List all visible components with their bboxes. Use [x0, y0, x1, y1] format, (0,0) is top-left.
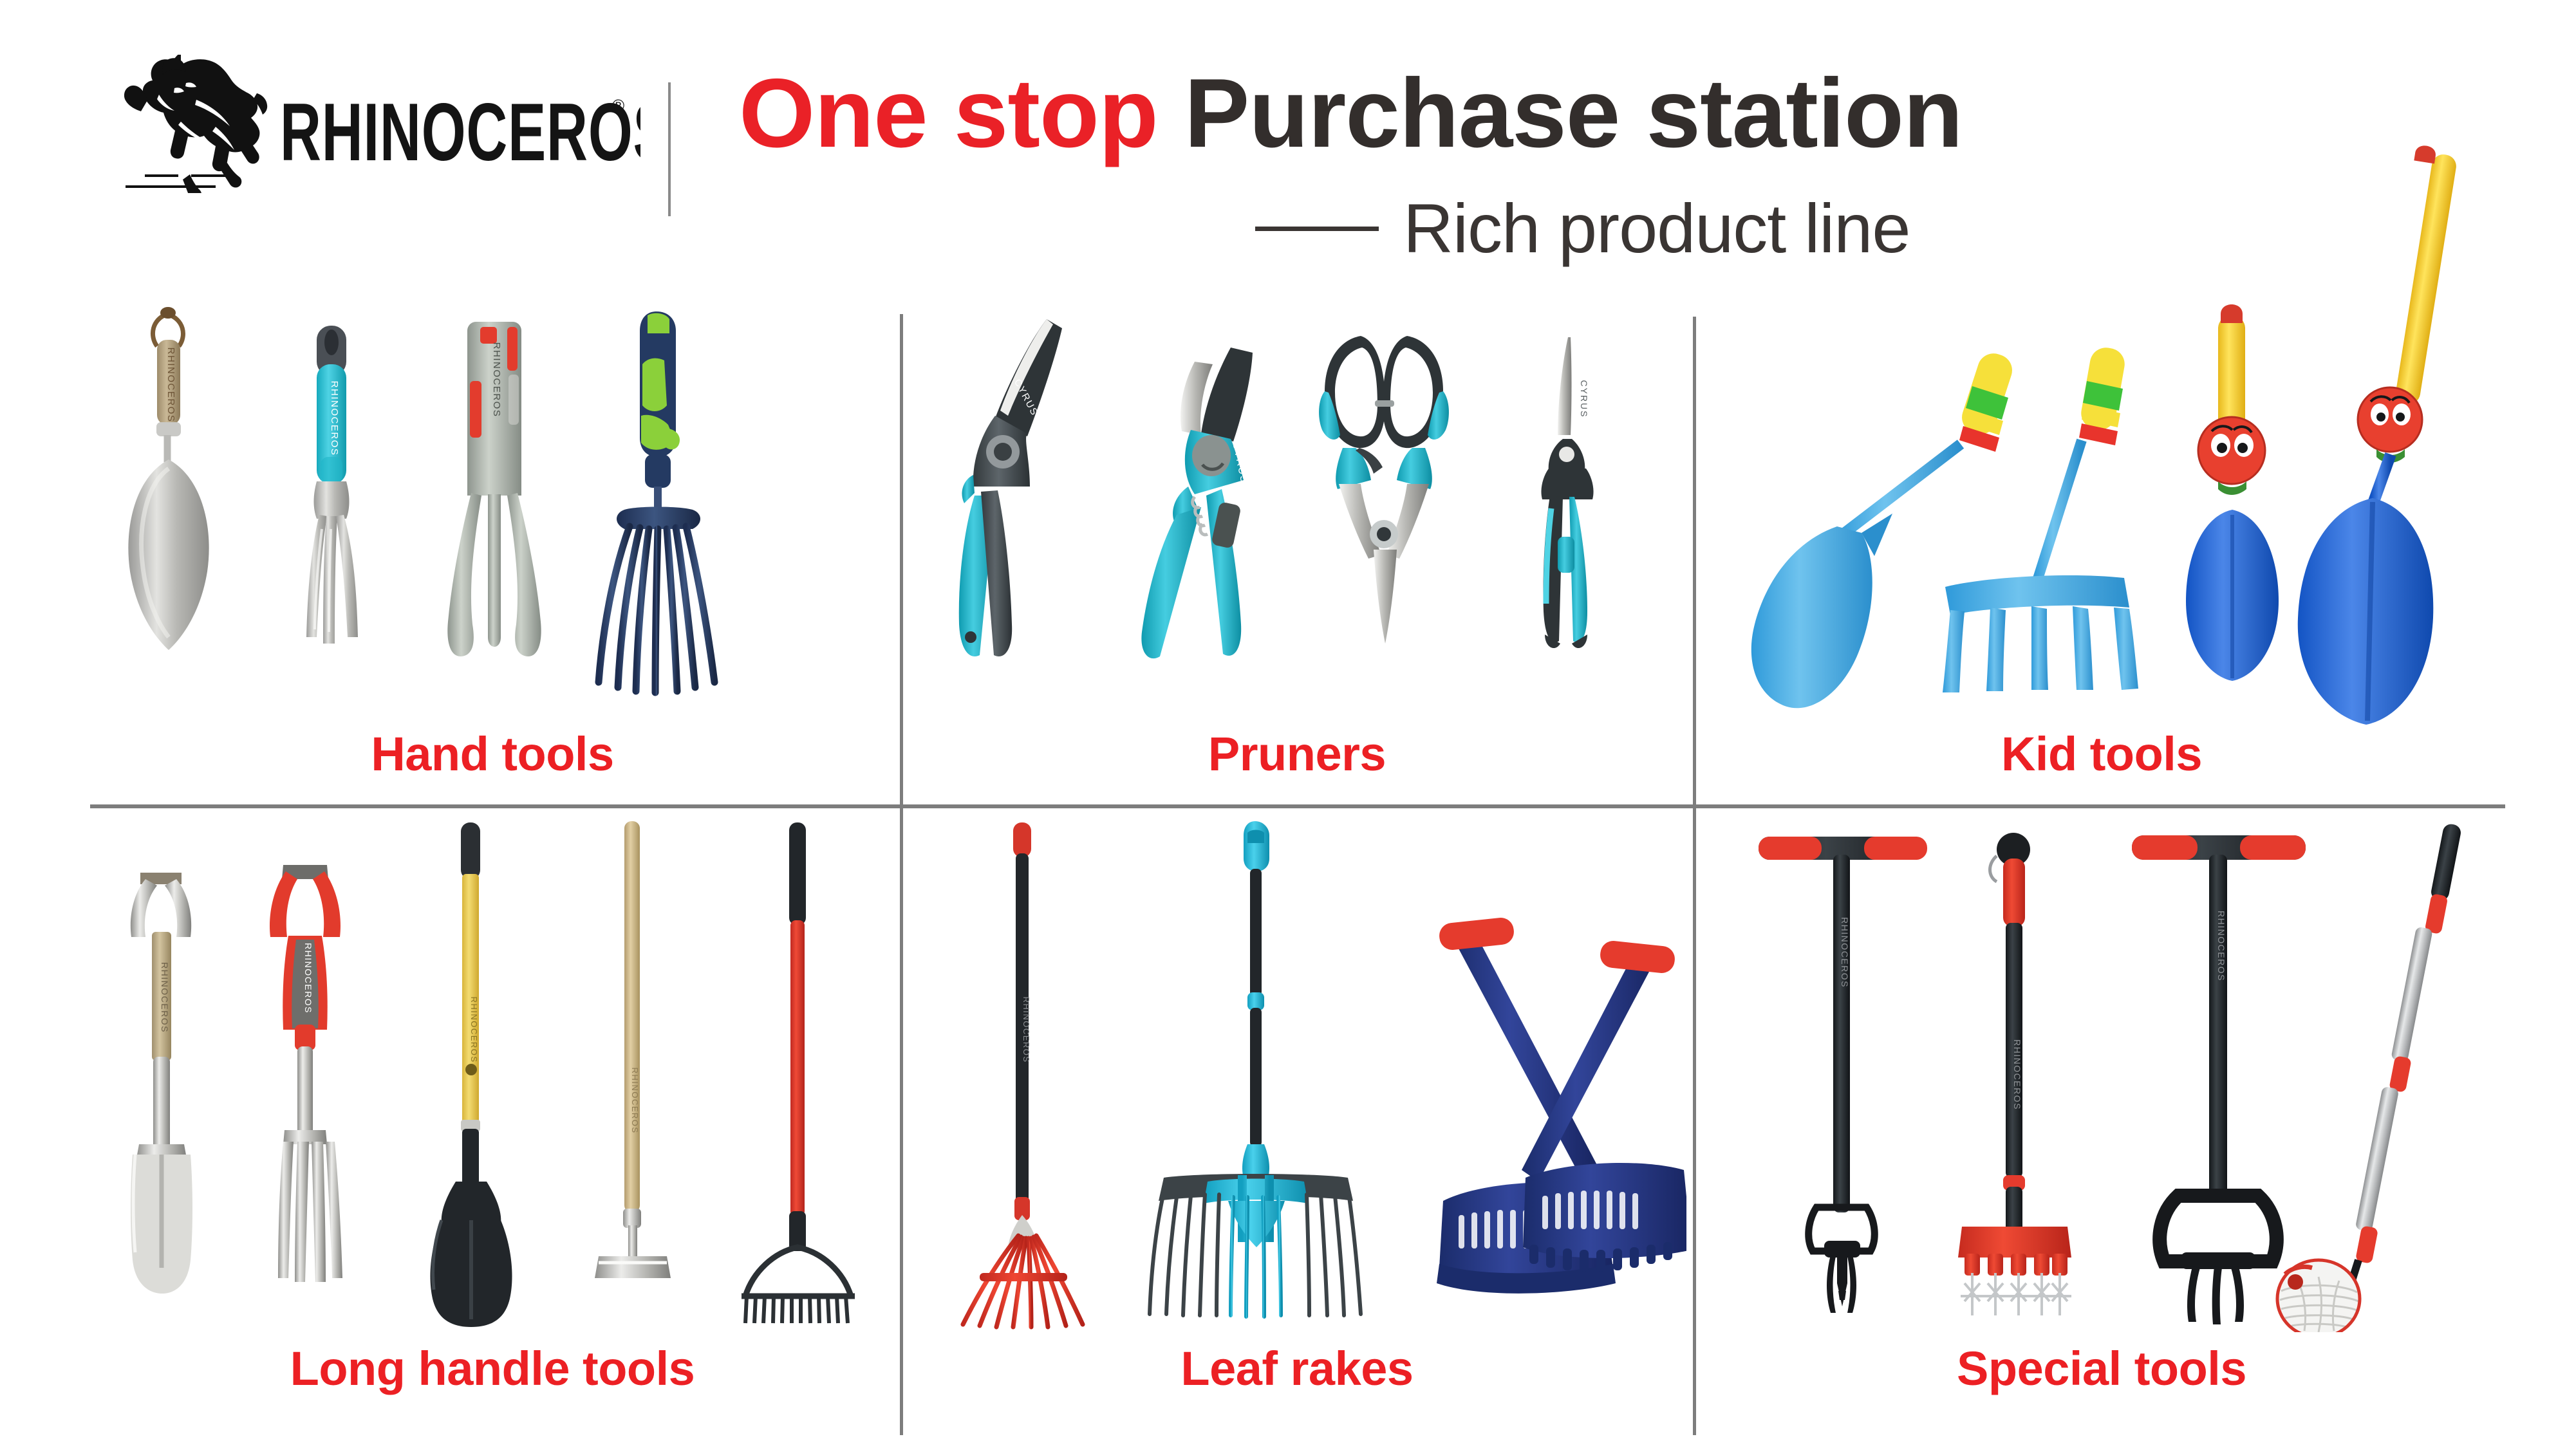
brand-wordmark: RHINOCEROS ® [280, 88, 640, 165]
category-cell-special-tools[interactable]: RHINOCEROS [1699, 817, 2504, 1332]
tool-round-point-shovel: RHINOCEROS [430, 822, 512, 1327]
long-handle-tools-illustration: RHINOCEROS RHINOCEROS [90, 817, 895, 1332]
tool-garden-scissors [1319, 336, 1449, 644]
category-label-leaf-rakes: Leaf rakes [908, 1345, 1686, 1393]
tool-digging-fork: RHINOCEROS [270, 865, 342, 1282]
category-cell-kid-tools[interactable] [1699, 129, 2504, 753]
rhinoceros-logo-icon [119, 55, 286, 193]
tool-kid-trowel-foam [1751, 349, 2017, 709]
svg-text:RHINOCEROS: RHINOCEROS [165, 348, 176, 423]
category-label-hand-tools: Hand tools [90, 730, 895, 778]
svg-text:RHINOCEROS: RHINOCEROS [469, 996, 479, 1063]
svg-text:CYRUS: CYRUS [1579, 380, 1589, 418]
svg-text:RHINOCEROS: RHINOCEROS [2012, 1039, 2022, 1110]
kid-tools-illustration [1699, 129, 2504, 753]
category-cell-leaf-rakes[interactable]: RHINOCEROS [908, 817, 1686, 1332]
grid-divider-horizontal [90, 804, 2505, 808]
subtitle-dash-icon [1255, 227, 1379, 231]
tool-cultivator: RHINOCEROS [447, 322, 541, 656]
tool-stand-up-weeder: RHINOCEROS [1759, 837, 1927, 1313]
tool-d-handle-spade: RHINOCEROS [131, 873, 192, 1294]
tool-bypass-pruner-grey: CYRUS [959, 319, 1062, 656]
tool-garden-hoe: RHINOCEROS [595, 821, 671, 1278]
tool-nut-gatherer [2277, 822, 2462, 1332]
header-divider [668, 82, 671, 216]
tool-rotary-cultivator: RHINOCEROS [1958, 833, 2071, 1315]
leaf-rakes-illustration: RHINOCEROS [908, 817, 1686, 1332]
svg-text:RHINOCEROS: RHINOCEROS [1840, 917, 1850, 988]
category-cell-pruners[interactable]: CYRUS CYRUS [908, 302, 1686, 753]
tool-steel-leaf-rake: RHINOCEROS [963, 822, 1083, 1327]
tool-bow-rake [742, 822, 855, 1323]
tool-kid-trowel-tomato [2186, 304, 2279, 681]
svg-text:®: ® [612, 96, 624, 115]
brand-logo: RHINOCEROS ® [119, 55, 640, 206]
grid-divider-vertical-1 [900, 314, 903, 1435]
tool-twist-tiller: RHINOCEROS [2132, 835, 2306, 1324]
headline-highlight: One stop [739, 59, 1158, 168]
category-label-pruners: Pruners [908, 730, 1686, 778]
category-cell-long-handle-tools[interactable]: RHINOCEROS RHINOCEROS [90, 817, 895, 1332]
category-label-long-handle-tools: Long handle tools [90, 1345, 895, 1393]
grid-divider-vertical-2 [1693, 317, 1696, 1435]
svg-text:RHINOCEROS: RHINOCEROS [329, 381, 340, 456]
hand-tools-illustration: RHINOCEROS RHINOCEROS RHINOCEROS [90, 302, 895, 753]
category-label-kid-tools: Kid tools [1699, 730, 2504, 778]
svg-text:RHINOCEROS: RHINOCEROS [630, 1067, 640, 1133]
tool-shrub-rake [599, 311, 714, 692]
tool-adjustable-leaf-rake [1150, 821, 1361, 1317]
svg-text:RHINOCEROS: RHINOCEROS [303, 943, 313, 1014]
svg-text:RHINOCEROS: RHINOCEROS [160, 962, 170, 1033]
category-cell-hand-tools[interactable]: RHINOCEROS RHINOCEROS RHINOCEROS [90, 302, 895, 753]
tool-kid-shovel-tomato [2298, 144, 2458, 725]
tool-leaf-grabber-scoops [1437, 916, 1686, 1294]
svg-text:RHINOCEROS: RHINOCEROS [280, 88, 640, 165]
pruners-illustration: CYRUS CYRUS [908, 302, 1686, 753]
category-label-special-tools: Special tools [1699, 1345, 2504, 1393]
tool-hand-trowel: RHINOCEROS [128, 307, 209, 650]
svg-text:RHINOCEROS: RHINOCEROS [1022, 996, 1031, 1063]
svg-text:RHINOCEROS: RHINOCEROS [2216, 911, 2226, 981]
tool-bypass-pruner-cyan: CYRUS [1141, 348, 1253, 658]
tool-hand-fork: RHINOCEROS [306, 326, 358, 644]
special-tools-illustration: RHINOCEROS [1699, 817, 2504, 1332]
svg-text:RHINOCEROS: RHINOCEROS [491, 342, 502, 418]
tool-thinning-snip: CYRUS [1541, 337, 1593, 648]
